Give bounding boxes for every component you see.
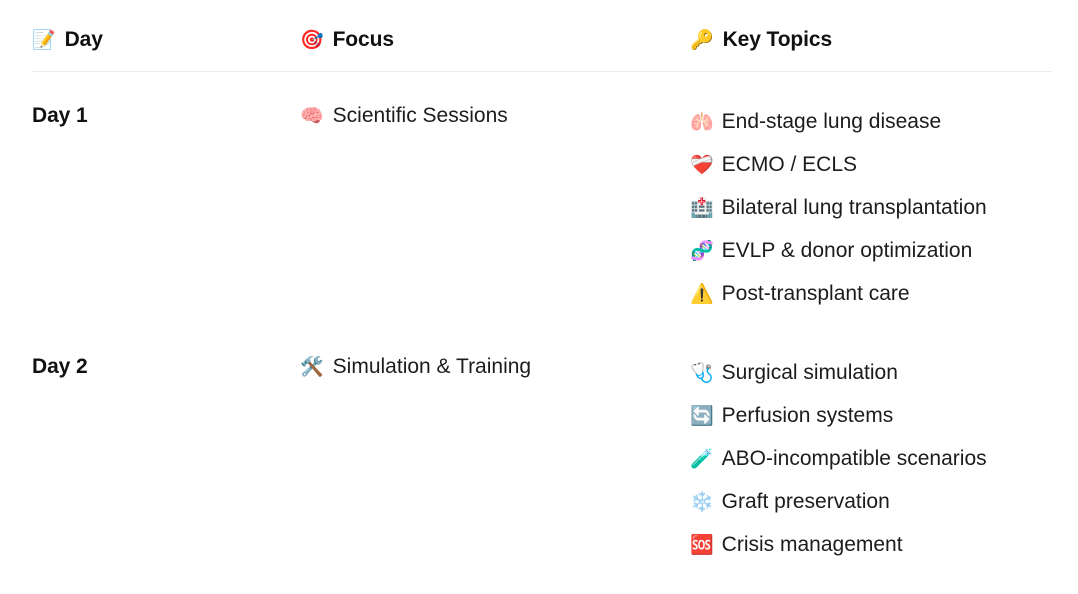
cell-focus: 🧠 Scientific Sessions <box>300 100 690 132</box>
list-item: 🫁 End-stage lung disease <box>690 100 1078 143</box>
column-header-key-topics: 🔑 Key Topics <box>690 26 1078 54</box>
snowflake-icon: ❄️ <box>690 493 714 512</box>
list-item-label: Surgical simulation <box>722 351 898 394</box>
target-icon: 🎯 <box>300 31 324 50</box>
list-item: 🧪 ABO-incompatible scenarios <box>690 437 1078 480</box>
lungs-icon: 🫁 <box>690 113 714 132</box>
list-item-label: EVLP & donor optimization <box>722 229 973 272</box>
warning-icon: ⚠️ <box>690 285 714 304</box>
list-item-label: End-stage lung disease <box>722 100 942 143</box>
table-header-row: 📝 Day 🎯 Focus 🔑 Key Topics <box>0 0 1078 54</box>
key-icon: 🔑 <box>690 31 714 50</box>
column-header-focus: 🎯 Focus <box>300 26 690 54</box>
cell-focus-label: Simulation & Training <box>333 351 531 383</box>
list-item: 🩺 Surgical simulation <box>690 351 1078 394</box>
cell-focus-label: Scientific Sessions <box>333 100 508 132</box>
column-header-day: 📝 Day <box>32 26 300 54</box>
hospital-icon: 🏥 <box>690 199 714 218</box>
mending-heart-icon: ❤️‍🩹 <box>690 156 714 175</box>
cell-day-label: Day 2 <box>32 351 300 383</box>
list-item: 🆘 Crisis management <box>690 523 1078 566</box>
brain-icon: 🧠 <box>300 107 324 126</box>
list-item: ❤️‍🩹 ECMO / ECLS <box>690 143 1078 186</box>
cell-key-topics: 🫁 End-stage lung disease ❤️‍🩹 ECMO / ECL… <box>690 100 1078 315</box>
counterclockwise-arrows-icon: 🔄 <box>690 407 714 426</box>
list-item-label: Bilateral lung transplantation <box>722 186 987 229</box>
cell-key-topics: 🩺 Surgical simulation 🔄 Perfusion system… <box>690 351 1078 566</box>
schedule-table: 📝 Day 🎯 Focus 🔑 Key Topics Day 1 🧠 Scien… <box>0 0 1078 566</box>
list-item: ❄️ Graft preservation <box>690 480 1078 523</box>
column-header-day-label: Day <box>65 26 103 54</box>
list-item-label: Crisis management <box>722 523 903 566</box>
stethoscope-icon: 🩺 <box>690 364 714 383</box>
memo-icon: 📝 <box>32 31 56 50</box>
list-item: 🔄 Perfusion systems <box>690 394 1078 437</box>
list-item: 🧬 EVLP & donor optimization <box>690 229 1078 272</box>
cell-day-label: Day 1 <box>32 100 300 132</box>
table-row: Day 1 🧠 Scientific Sessions 🫁 End-stage … <box>32 72 1078 315</box>
table-body: Day 1 🧠 Scientific Sessions 🫁 End-stage … <box>0 72 1078 566</box>
list-item-label: Post-transplant care <box>722 272 910 315</box>
list-item-label: Graft preservation <box>722 480 890 523</box>
cell-focus: 🛠️ Simulation & Training <box>300 351 690 383</box>
sos-button-icon: 🆘 <box>690 536 714 555</box>
list-item-label: Perfusion systems <box>722 394 894 437</box>
list-item-label: ABO-incompatible scenarios <box>722 437 987 480</box>
column-header-focus-label: Focus <box>333 26 394 54</box>
dna-icon: 🧬 <box>690 242 714 261</box>
column-header-key-topics-label: Key Topics <box>723 26 832 54</box>
list-item-label: ECMO / ECLS <box>722 143 857 186</box>
list-item: 🏥 Bilateral lung transplantation <box>690 186 1078 229</box>
test-tube-icon: 🧪 <box>690 450 714 469</box>
list-item: ⚠️ Post-transplant care <box>690 272 1078 315</box>
hammer-and-wrench-icon: 🛠️ <box>300 358 324 377</box>
table-row: Day 2 🛠️ Simulation & Training 🩺 Surgica… <box>32 315 1078 566</box>
